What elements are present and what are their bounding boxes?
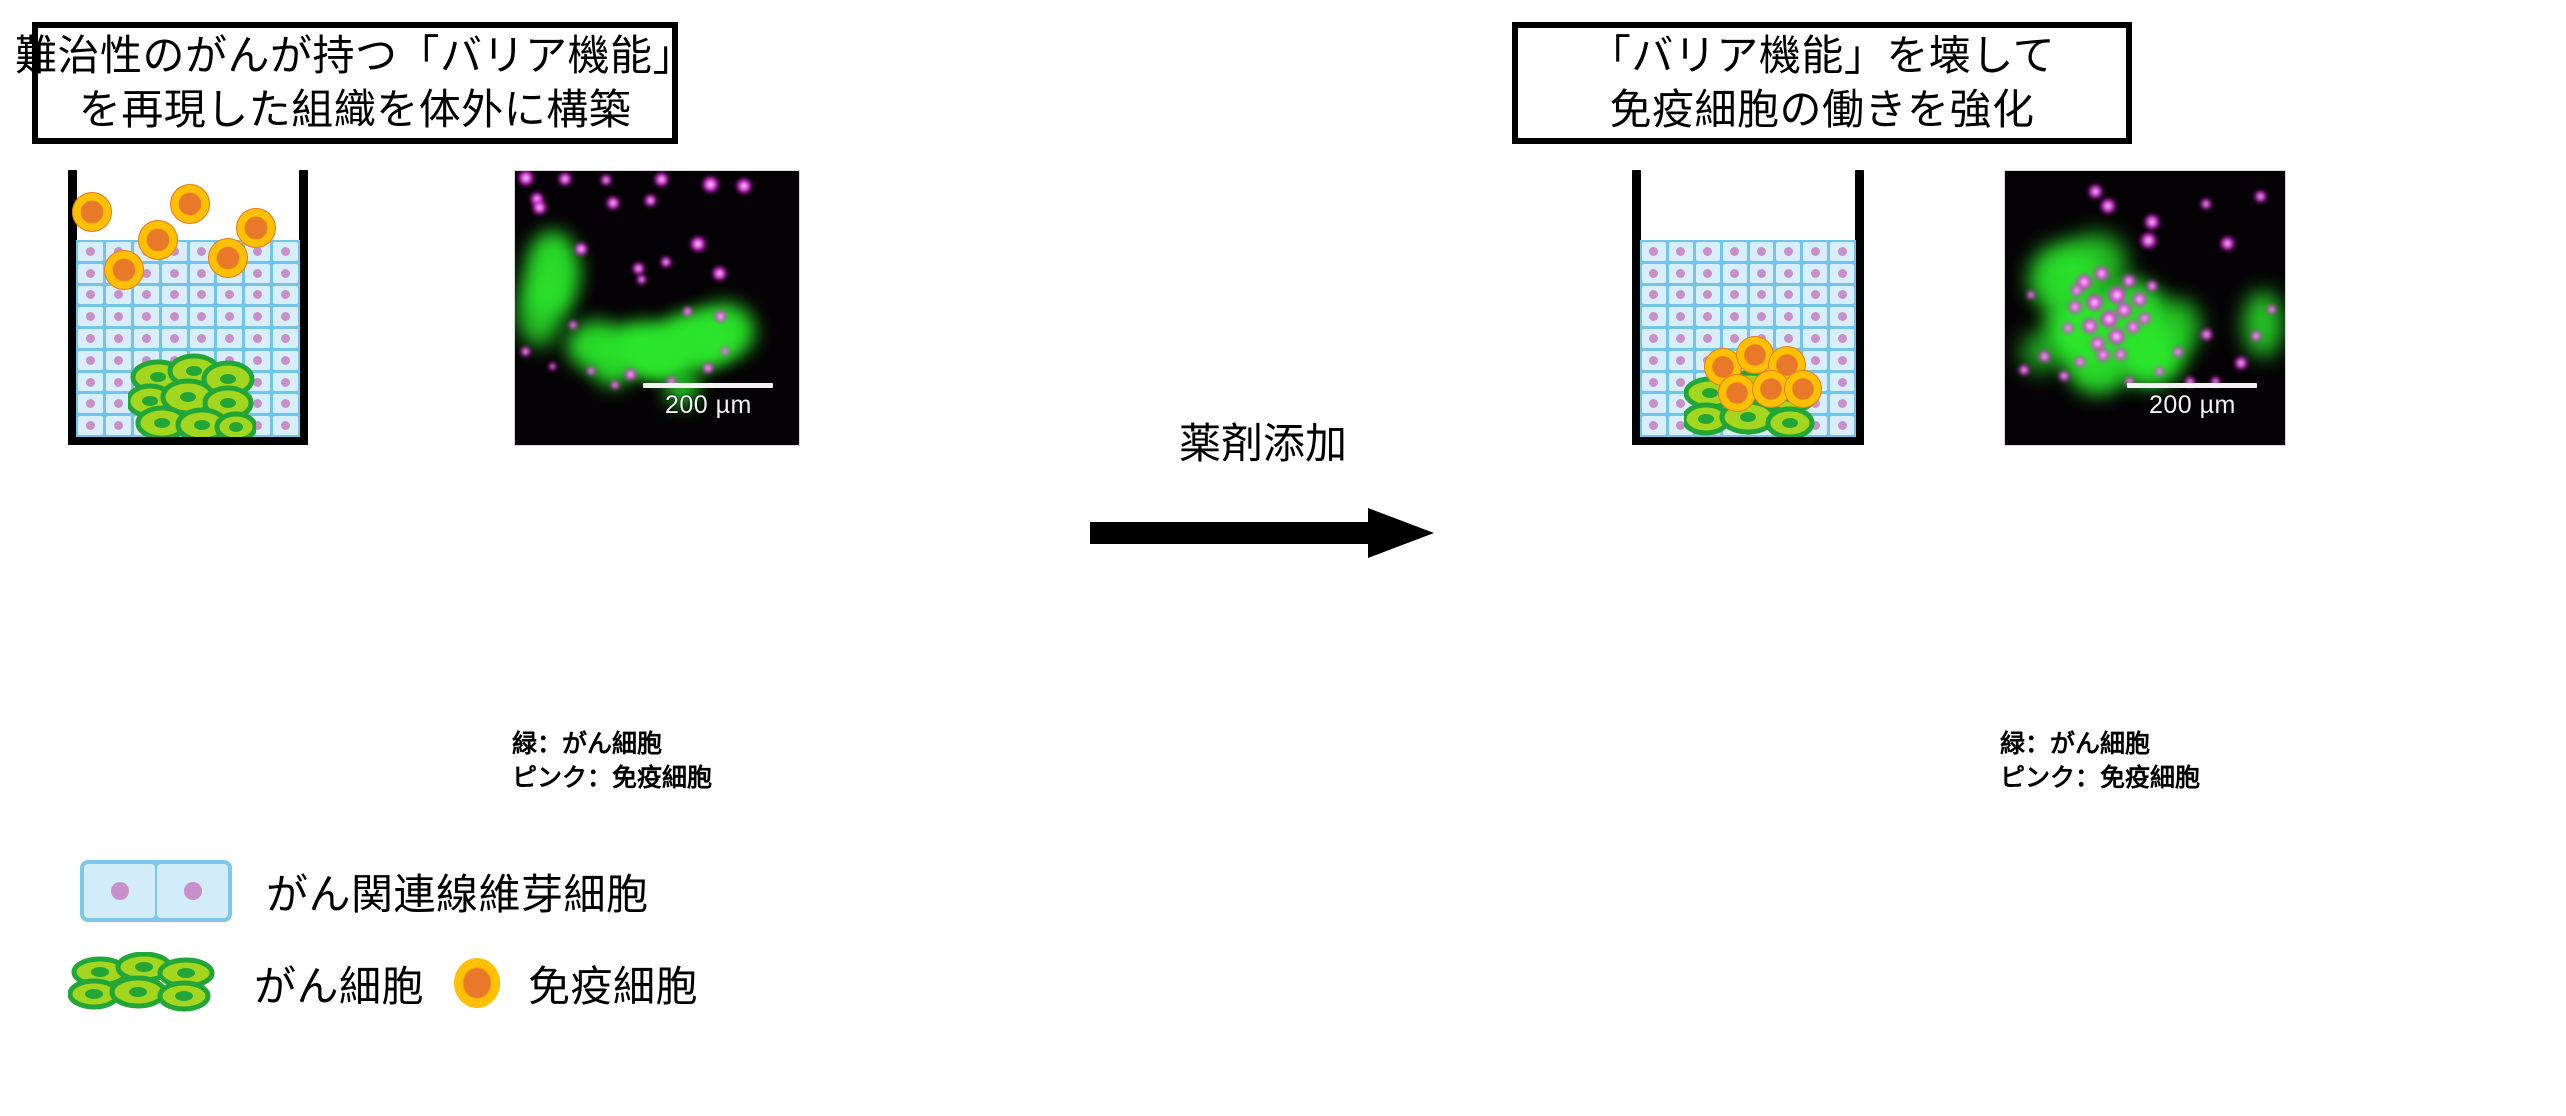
fluorescence-dot [645,195,656,206]
caf-cell [273,394,298,413]
fluorescence-dot [2147,281,2157,291]
caf-cell [1803,242,1827,261]
caf-cell [162,329,187,348]
immune-cell-icon [72,192,112,232]
caf-cell [1642,264,1666,283]
caf-cell [217,329,242,348]
fluorescence-dot [521,347,530,356]
panel-after-drug: 「バリア機能」を壊して 免疫細胞の働きを強化 [1280,0,2566,1116]
fluorescence-dot [2251,331,2261,341]
caf-cell [217,307,242,326]
caf-cell [1642,286,1666,305]
fluorescence-dot [2221,237,2234,250]
fluorescence-dot [2071,285,2082,296]
fluorescence-dot [2201,199,2211,209]
caption-right-line-2: ピンク：免疫細胞 [2000,762,2200,796]
caf-cell [78,307,103,326]
caf-cell [1776,286,1800,305]
micrograph-left: 200 µm [514,170,800,446]
immune-cell-icon [1784,370,1822,408]
caf-cell [1803,307,1827,326]
caf-cell [1642,351,1666,370]
fluorescence-dot [721,347,729,355]
caf-cell [1669,242,1693,261]
caf-cell [245,264,270,283]
legend-label-tumor: がん細胞 [254,953,424,1014]
caf-cell [273,416,298,435]
legend-label-immune: 免疫細胞 [528,953,698,1014]
micrograph-right: 200 µm [2004,170,2286,446]
title-left-line-2: を再現した組織を体外に構築 [79,83,632,137]
fluorescence-dot [683,307,692,316]
fluorescence-dot [2141,233,2156,248]
caf-cell [190,307,215,326]
caf-cell [106,307,131,326]
caf-cell [1669,329,1693,348]
fluorescence-dot [2069,301,2081,313]
fluorescence-dot [2173,347,2183,357]
caption-right-line-1: 緑：がん細胞 [2000,728,2200,762]
caf-cell [1750,242,1774,261]
fluorescence-dot [2019,365,2029,375]
caf-cell [1750,286,1774,305]
fluorescence-dot [607,197,619,209]
scalebar-left [643,383,773,388]
caf-cell [78,394,103,413]
caf-cell [245,286,270,305]
caf-cell [217,286,242,305]
fluorescence-dot [559,173,571,185]
fluorescence-dot [2109,287,2125,303]
fluorescence-dot [575,243,587,255]
caf-cell [273,373,298,392]
fluorescence-blob [517,276,562,346]
caf-cell [1642,307,1666,326]
immune-cell-icon [170,184,210,224]
legend-label-caf: がん関連線維芽細胞 [266,861,649,922]
fluorescence-dot [2145,215,2159,229]
panel-before-drug: 難治性のがんが持つ「バリア機能」 を再現した組織を体外に構築 [0,0,1280,1116]
caf-cell [78,286,103,305]
fluorescence-dot [2063,323,2073,333]
caf-cell [78,351,103,370]
fluorescence-dot [655,173,668,186]
scalebar-label-left: 200 µm [665,391,752,420]
caf-cell [162,286,187,305]
fluorescence-dot [2083,319,2097,333]
caf-cell [1830,373,1854,392]
immune-cell-icon [138,220,178,260]
fluorescence-dot [549,363,556,370]
caf-cell [1642,373,1666,392]
fluorescence-dot [2235,357,2247,369]
caf-cell [1696,329,1720,348]
scalebar-label-right: 200 µm [2149,391,2236,420]
caf-cell [162,307,187,326]
caf-cell [1830,394,1854,413]
caf-cell [1696,307,1720,326]
fluorescence-dot [2097,349,2109,361]
caf-cell [134,329,159,348]
fluorescence-dot [601,175,611,185]
fluorescence-dot [2127,321,2139,333]
caf-cell [1830,307,1854,326]
well-diagram-right [1632,170,1864,445]
caf-cell [273,242,298,261]
caf-cell [162,264,187,283]
caf-cell [1723,264,1747,283]
caf-cell [273,329,298,348]
micrograph-caption-right: 緑：がん細胞 ピンク：免疫細胞 [2000,728,2200,796]
legend: がん関連線維芽細胞 [0,860,1280,1080]
caf-cell [1776,307,1800,326]
fluorescence-dot [691,237,705,251]
caption-left-line-2: ピンク：免疫細胞 [512,762,712,796]
title-left-line-1: 難治性のがんが持つ「バリア機能」 [15,29,695,83]
title-box-left: 難治性のがんが持つ「バリア機能」 を再現した組織を体外に構築 [32,22,678,144]
tumor-mass-left [128,349,256,437]
caf-cell [1776,264,1800,283]
fluorescence-dot [2255,191,2266,202]
caf-cell [273,264,298,283]
fluorescence-blob [2243,291,2283,357]
title-box-right: 「バリア機能」を壊して 免疫細胞の働きを強化 [1512,22,2132,144]
fluorescence-dot [625,369,636,380]
immune-cell-icon [454,958,500,1008]
caf-cell [1642,329,1666,348]
caf-cells-icon [80,860,232,922]
caf-cell [1803,286,1827,305]
fluorescence-dot [2101,199,2115,213]
legend-item-caf: がん関連線維芽細胞 [80,860,649,922]
caf-cell [273,351,298,370]
caf-cell [1830,264,1854,283]
caf-cell [1830,416,1854,435]
caf-cell [1830,351,1854,370]
fluorescence-dot [633,263,644,274]
fluorescence-dot [2075,357,2085,367]
fluorescence-dot [2059,371,2069,381]
micrograph-canvas [2005,171,2285,445]
caf-cell [1642,416,1666,435]
fluorescence-dot [661,257,671,267]
fluorescence-dot [2155,367,2164,376]
caf-cell [1696,264,1720,283]
tumor-cells-icon [68,952,220,1014]
caf-cell [1723,286,1747,305]
caf-cell [1803,329,1827,348]
scalebar-right [2127,383,2257,388]
caf-cell [106,329,131,348]
immune-cell-icon [208,238,248,278]
fluorescence-dot [703,363,713,373]
fluorescence-dot [587,367,595,375]
caf-cell [78,373,103,392]
micrograph-caption-left: 緑：がん細胞 ピンク：免疫細胞 [512,728,712,796]
fluorescence-dot [2109,329,2124,344]
caf-cell [273,307,298,326]
fluorescence-dot [2123,275,2135,287]
immune-cell-icon [236,208,276,248]
caf-cell [78,416,103,435]
fluorescence-dot [2115,349,2126,360]
caf-cell [1669,307,1693,326]
caf-cell [1723,307,1747,326]
micrograph-canvas [515,171,799,445]
title-right-line-2: 免疫細胞の働きを強化 [1609,83,2034,137]
caf-cell [134,307,159,326]
caption-left-line-1: 緑：がん細胞 [512,728,712,762]
well-floor [68,436,308,445]
fluorescence-dot [2087,295,2102,310]
caf-cell [1696,242,1720,261]
caf-cell [1669,264,1693,283]
fluorescence-dot [713,267,726,280]
caf-cell [1830,286,1854,305]
immune-cell-icon [104,250,144,290]
caf-cell [1803,264,1827,283]
caf-cell [1830,329,1854,348]
fluorescence-dot [703,177,718,192]
title-right-line-1: 「バリア機能」を壊して [1589,29,2055,83]
caf-cell [1750,307,1774,326]
well-wall-right [1855,170,1864,445]
fluorescence-dot [2039,351,2050,362]
fluorescence-dot [737,179,751,193]
well-diagram-left [68,170,308,445]
fluorescence-dot [2027,291,2035,299]
caf-cell [78,264,103,283]
caf-cell [1750,264,1774,283]
fluorescence-dot [2133,293,2146,306]
caf-cell [78,329,103,348]
caf-cell [190,329,215,348]
fluorescence-dot [2095,267,2108,280]
caf-cell [245,307,270,326]
caf-cell [134,286,159,305]
caf-cell [78,242,103,261]
caf-cell [190,286,215,305]
caf-cell [1830,242,1854,261]
fluorescence-dot [519,171,533,185]
caf-cell [1642,242,1666,261]
caf-cell [1696,286,1720,305]
fluorescence-dot [2101,311,2117,327]
fluorescence-dot [2139,313,2150,324]
fluorescence-dot [611,381,619,389]
fluorescence-dot [637,275,646,284]
immune-cell-icon [1718,374,1756,412]
fluorescence-dot [2201,329,2212,340]
fluorescence-dot [2117,303,2131,317]
legend-item-tumor-immune: がん細胞 免疫細胞 [68,952,698,1014]
caf-cell [1642,394,1666,413]
well-wall-right [299,170,308,445]
caf-cell [273,286,298,305]
well-floor [1632,436,1864,445]
fluorescence-dot [569,321,577,329]
fluorescence-dot [2267,305,2276,314]
fluorescence-dot [533,201,546,214]
caf-cell [1776,242,1800,261]
caf-cell [245,329,270,348]
fluorescence-dot [2089,185,2102,198]
fluorescence-dot [715,311,726,322]
caf-cell [1723,242,1747,261]
caf-cell [1669,286,1693,305]
